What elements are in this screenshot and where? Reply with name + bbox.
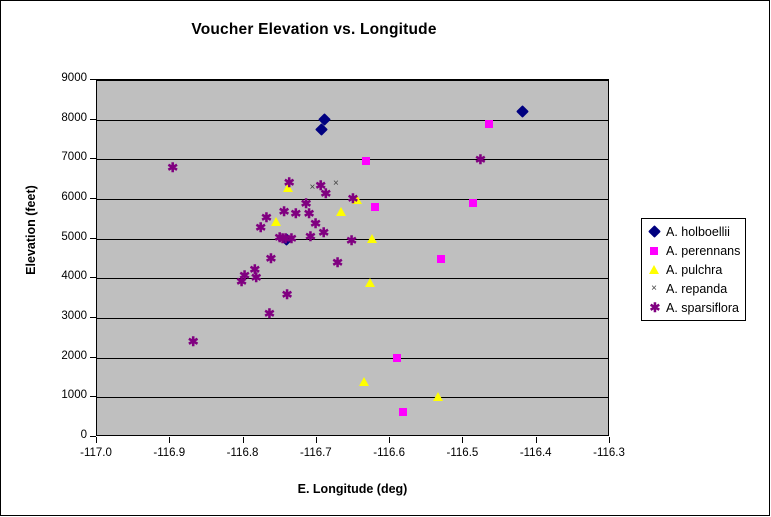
data-point	[336, 207, 346, 216]
gridline	[97, 318, 608, 319]
x-tick-mark	[243, 437, 244, 443]
chart-title: Voucher Elevation vs. Longitude	[1, 21, 627, 39]
y-tick-label: 1000	[27, 390, 87, 402]
x-tick-label: -116.7	[281, 448, 351, 460]
data-point	[469, 199, 477, 207]
data-point	[310, 219, 319, 228]
x-tick-mark	[536, 437, 537, 443]
y-tick-mark	[90, 198, 96, 199]
data-point	[332, 258, 341, 267]
y-tick-mark	[90, 317, 96, 318]
data-point	[283, 183, 293, 192]
legend-item-a-perennans[interactable]: A. perennans	[646, 241, 740, 260]
x-tick-label: -116.9	[134, 448, 204, 460]
y-tick-mark	[90, 277, 96, 278]
x-tick-mark	[609, 437, 610, 443]
data-point	[304, 209, 313, 218]
gridline	[97, 397, 608, 398]
y-tick-label: 2000	[27, 351, 87, 363]
data-point	[261, 213, 270, 222]
y-tick-label: 5000	[27, 232, 87, 244]
legend-item-a-pulchra[interactable]: A. pulchra	[646, 260, 740, 279]
legend-item-label: A. repanda	[662, 282, 727, 296]
legend-item-label: A. perennans	[662, 244, 740, 258]
gridline	[97, 80, 608, 81]
y-tick-mark	[90, 396, 96, 397]
data-point	[271, 217, 281, 226]
y-axis-title: Elevation (feet)	[24, 140, 38, 320]
x-tick-label: -116.4	[501, 448, 571, 460]
data-point	[249, 265, 258, 274]
data-point	[255, 223, 264, 232]
gridline	[97, 199, 608, 200]
x-axis-title: E. Longitude (deg)	[96, 482, 609, 496]
diamond-marker-icon	[646, 224, 662, 240]
gridline	[97, 159, 608, 160]
x-tick-mark	[316, 437, 317, 443]
x-tick-label: -116.5	[427, 448, 497, 460]
y-tick-label: 8000	[27, 113, 87, 125]
legend-item-label: A. holboellii	[662, 225, 730, 239]
data-point	[516, 105, 529, 118]
y-tick-mark	[90, 79, 96, 80]
data-point	[282, 290, 291, 299]
y-tick-label: 4000	[27, 271, 87, 283]
y-tick-label: 3000	[27, 311, 87, 323]
gridline	[97, 120, 608, 121]
data-point	[290, 209, 299, 218]
x-tick-label: -116.6	[354, 448, 424, 460]
chart-legend: A. holboelliiA. perennansA. pulchraA. re…	[641, 218, 746, 321]
data-point	[167, 163, 176, 172]
y-tick-label: 7000	[27, 152, 87, 164]
gridline	[97, 358, 608, 359]
y-tick-label: 0	[27, 430, 87, 442]
data-point	[316, 123, 329, 136]
legend-item-a-repanda[interactable]: A. repanda	[646, 279, 740, 298]
gridline	[97, 278, 608, 279]
data-point	[265, 254, 274, 263]
data-point	[279, 207, 288, 216]
x-tick-label: -117.0	[61, 448, 131, 460]
data-point	[365, 278, 375, 287]
x-tick-label: -116.3	[574, 448, 644, 460]
chart-container: Voucher Elevation vs. Longitude Elevatio…	[0, 0, 770, 516]
x-marker-icon	[646, 281, 662, 297]
data-point	[371, 203, 379, 211]
legend-item-label: A. pulchra	[662, 263, 722, 277]
x-tick-mark	[389, 437, 390, 443]
x-tick-mark	[462, 437, 463, 443]
data-point	[437, 255, 445, 263]
y-tick-mark	[90, 357, 96, 358]
plot-area	[96, 79, 609, 436]
legend-item-a-sparsiflora[interactable]: A. sparsiflora	[646, 298, 740, 317]
y-tick-mark	[90, 119, 96, 120]
data-point	[301, 199, 310, 208]
data-point	[308, 183, 317, 192]
y-tick-label: 9000	[27, 73, 87, 85]
data-point	[399, 408, 407, 416]
legend-item-a-holboellii[interactable]: A. holboellii	[646, 222, 740, 241]
square-marker-icon	[646, 243, 662, 259]
y-tick-mark	[90, 158, 96, 159]
x-tick-mark	[169, 437, 170, 443]
data-point	[188, 337, 197, 346]
legend-item-label: A. sparsiflora	[662, 301, 739, 315]
data-point	[485, 120, 493, 128]
y-tick-label: 6000	[27, 192, 87, 204]
data-point	[346, 236, 355, 245]
data-point	[284, 178, 293, 187]
data-point	[331, 179, 340, 188]
triangle-marker-icon	[646, 262, 662, 278]
data-point	[359, 377, 369, 386]
data-point	[320, 189, 329, 198]
data-point	[305, 232, 314, 241]
data-point	[318, 228, 327, 237]
y-tick-mark	[90, 238, 96, 239]
star-marker-icon	[646, 300, 662, 316]
gridline	[97, 239, 608, 240]
x-tick-mark	[96, 437, 97, 443]
data-point	[315, 181, 324, 190]
x-tick-label: -116.8	[208, 448, 278, 460]
